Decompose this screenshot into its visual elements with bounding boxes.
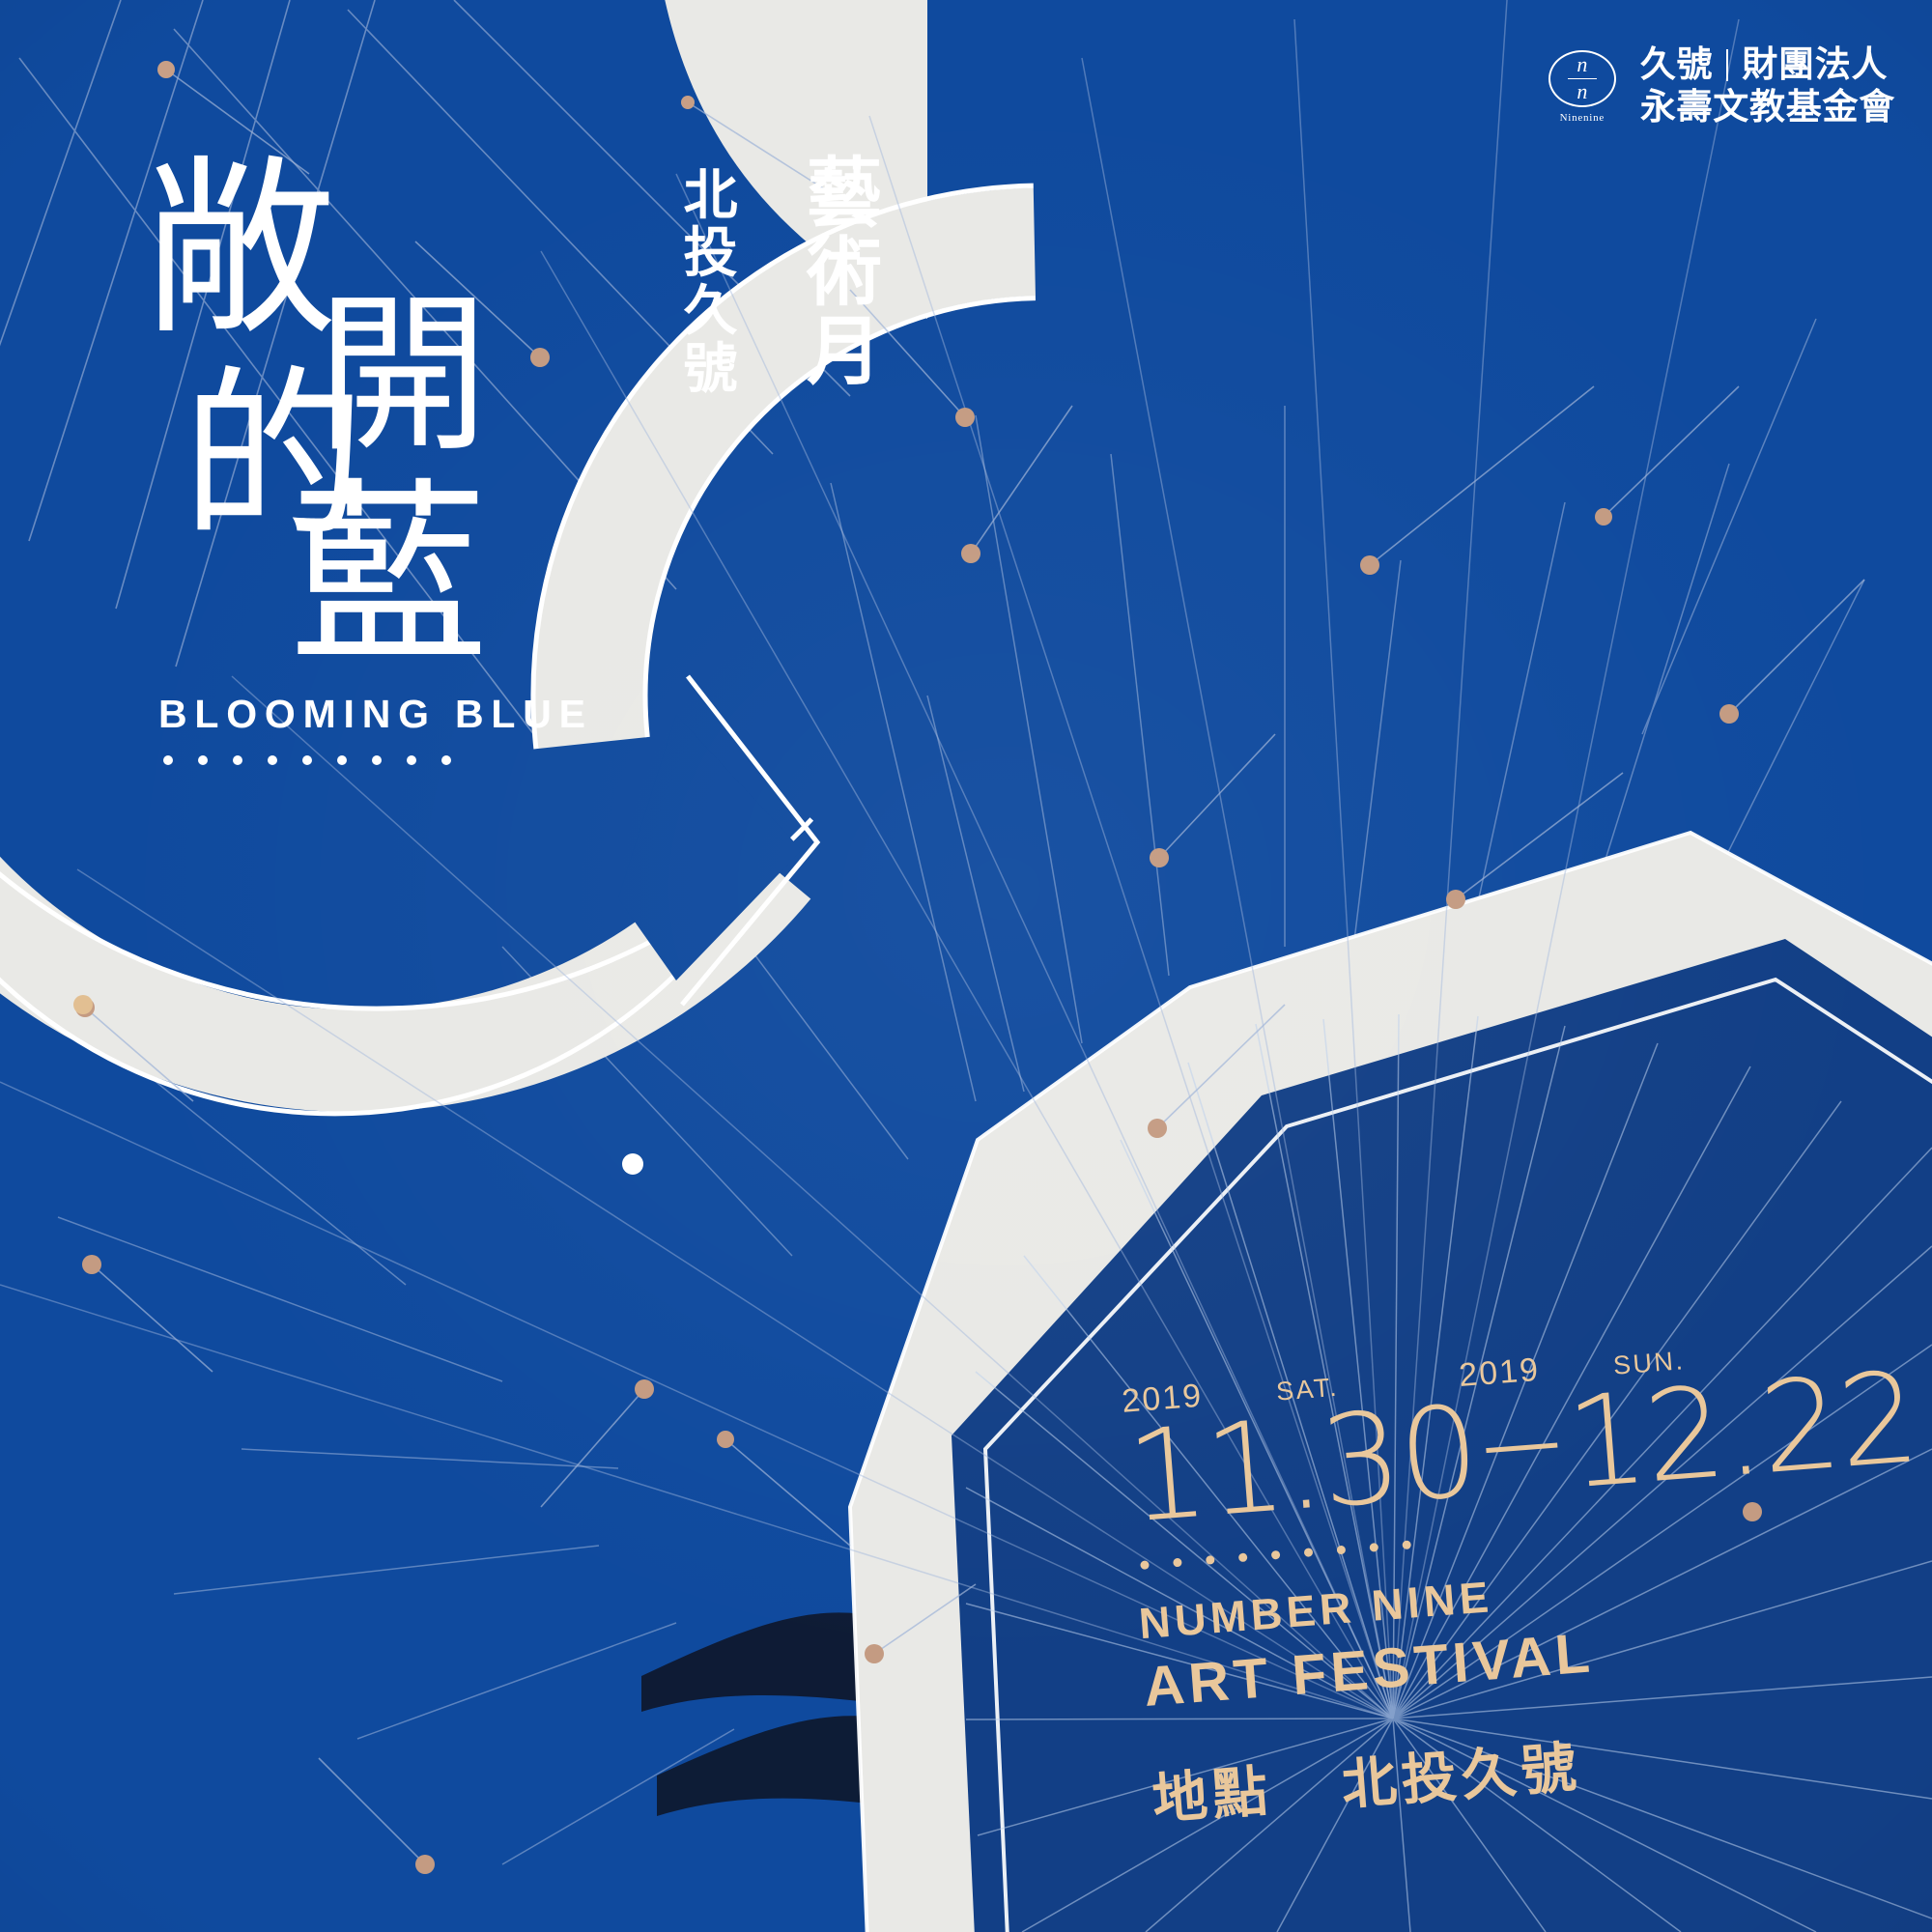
foundation-logo[interactable]: n n Ninenine 久號 財團法人 永壽文教基金會 [1546,44,1895,128]
title-dot-row [163,755,593,765]
title-dot [163,755,173,765]
title-dot [233,755,242,765]
title-dot [198,755,208,765]
date-dot [1402,1540,1411,1549]
date-dot [1173,1558,1182,1568]
accent-dot-white [622,1153,643,1175]
org-type-cn: 財團法人 [1742,44,1888,87]
title-english-block: BLOOMING BLUE [158,692,593,765]
foundation-name-line2: 永壽文教基金會 [1640,87,1895,129]
title-dot [302,755,312,765]
date-dot [1271,1550,1281,1560]
title-hanzi-artwork: 敞 開 的 藍 藝術月 北投久號 [145,145,589,686]
end-date: 12.22 [1563,1354,1921,1506]
event-info-content: 2019 SAT. 2019 SUN. 11.30 12.22 [1121,1322,1932,1834]
foundation-name-line1: 久號 財團法人 [1640,44,1895,87]
date-dot [1304,1548,1314,1557]
date-dot [1369,1543,1378,1552]
venue-label: 地點 [1151,1759,1275,1832]
title-dot [441,755,451,765]
nn-letter-top: n [1577,54,1587,75]
date-dot [1140,1560,1150,1570]
title-block: 敞 開 的 藍 藝術月 北投久號 BLOOMING BLUE [145,145,593,765]
nn-circle-icon: n n [1548,50,1616,107]
title-char-1: 敞 [145,155,336,346]
title-dot [337,755,347,765]
vertical-text-location: 北投久號 [667,166,745,398]
title-char-4: 藍 [290,478,488,676]
poster-canvas: n n Ninenine 久號 財團法人 永壽文教基金會 敞 開 的 藍 藝術月 [0,0,1932,1932]
arc-top-right-caps [985,0,1111,116]
start-date: 11.30 [1123,1388,1482,1540]
ninenine-mark: n n Ninenine [1546,50,1619,124]
venue-spacer [1297,1806,1319,1808]
vertical-text-columns: 藝術月 北投久號 [667,145,892,398]
title-dot [407,755,416,765]
logo-divider [1726,49,1728,81]
date-range-dash [1487,1442,1558,1453]
ninenine-wordmark: Ninenine [1560,112,1605,124]
date-dot [1206,1555,1215,1565]
title-dot [372,755,382,765]
title-dot [268,755,277,765]
title-english: BLOOMING BLUE [158,692,593,737]
foundation-name: 久號 財團法人 永壽文教基金會 [1640,44,1895,128]
date-dot [1238,1552,1248,1562]
vertical-text-art-month: 藝術月 [783,153,892,390]
date-dot [1337,1546,1347,1555]
nn-letter-bottom: n [1577,81,1587,102]
brand-name-cn: 久號 [1640,44,1713,87]
